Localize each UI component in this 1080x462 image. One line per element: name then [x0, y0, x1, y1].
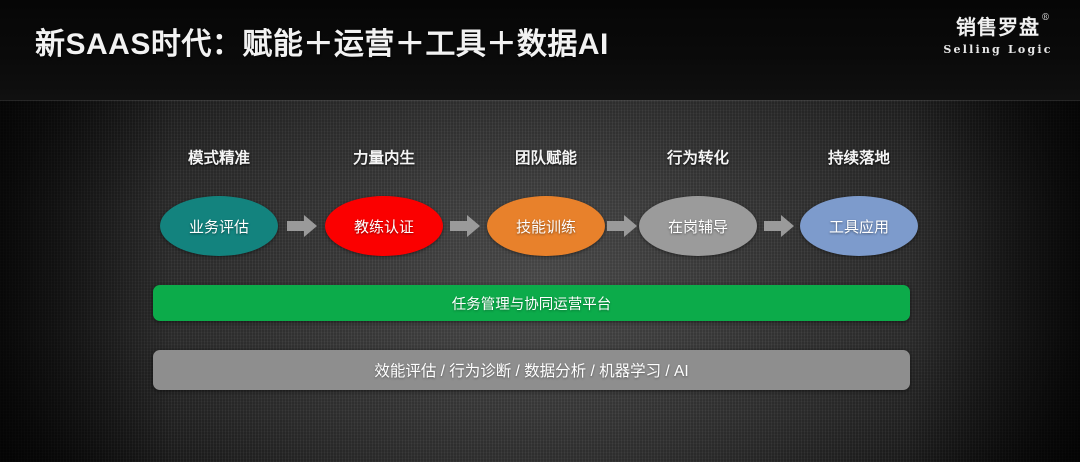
- platform-bar-label: 任务管理与协同运营平台: [452, 293, 612, 314]
- slide-canvas: 新SAAS时代：赋能＋运营＋工具＋数据AI 销售罗盘 ® Selling Log…: [0, 0, 1080, 462]
- flow-node-label: 教练认证: [354, 216, 414, 237]
- brand-logo-name-cn: 销售罗盘 ®: [956, 16, 1040, 39]
- registered-trademark-icon: ®: [1041, 13, 1051, 23]
- stage-label-1: 模式精准: [188, 146, 250, 168]
- stage-label-5: 持续落地: [828, 146, 890, 168]
- flow-node-coach-certification[interactable]: 教练认证: [325, 196, 443, 256]
- flow-node-skill-training[interactable]: 技能训练: [487, 196, 605, 256]
- flow-node-label: 技能训练: [516, 216, 576, 237]
- arrow-right-icon: [764, 215, 794, 237]
- flow-node-on-the-job-coaching[interactable]: 在岗辅导: [639, 196, 757, 256]
- flow-node-label: 在岗辅导: [668, 216, 728, 237]
- flow-node-tool-application[interactable]: 工具应用: [800, 196, 918, 256]
- flow-node-business-assessment[interactable]: 业务评估: [160, 196, 278, 256]
- stage-label-4: 行为转化: [667, 146, 729, 168]
- stage-label-3: 团队赋能: [515, 146, 577, 168]
- flow-node-label: 业务评估: [189, 216, 249, 237]
- brand-logo-name-en: Selling Logic: [934, 43, 1062, 56]
- platform-bar[interactable]: 任务管理与协同运营平台: [153, 285, 910, 321]
- arrow-right-icon: [607, 215, 637, 237]
- arrow-right-icon: [287, 215, 317, 237]
- analytics-bar[interactable]: 效能评估 / 行为诊断 / 数据分析 / 机器学习 / AI: [153, 350, 910, 390]
- brand-logo: 销售罗盘 ® Selling Logic: [934, 16, 1062, 56]
- stage-label-2: 力量内生: [353, 146, 415, 168]
- arrow-right-icon: [450, 215, 480, 237]
- flow-node-label: 工具应用: [829, 216, 889, 237]
- header-divider: [0, 100, 1080, 101]
- analytics-bar-label: 效能评估 / 行为诊断 / 数据分析 / 机器学习 / AI: [374, 359, 688, 381]
- slide-title: 新SAAS时代：赋能＋运营＋工具＋数据AI: [35, 19, 609, 63]
- brand-logo-name-cn-text: 销售罗盘: [956, 15, 1040, 39]
